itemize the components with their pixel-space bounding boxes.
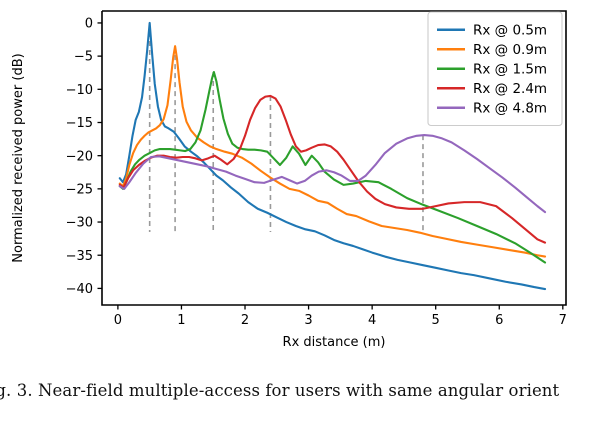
x-tick-label: 5	[432, 313, 440, 328]
x-tick-label: 1	[177, 313, 185, 328]
x-tick-label: 4	[368, 313, 376, 328]
y-tick-label: −5	[74, 50, 93, 65]
y-tick-label: −25	[66, 182, 93, 197]
y-tick-label: 0	[85, 17, 93, 32]
x-tick-label: 6	[495, 313, 503, 328]
x-tick-label: 2	[241, 313, 249, 328]
y-tick-label: −35	[66, 249, 93, 264]
x-tick-label: 0	[114, 313, 122, 328]
figure-caption: ig. 3. Near-field multiple-access for us…	[0, 358, 614, 422]
chart-figure: 012345670−5−10−15−20−25−30−35−40Rx dista…	[0, 0, 614, 358]
legend-label: Rx @ 0.9m	[473, 42, 547, 58]
x-tick-label: 3	[304, 313, 312, 328]
figure-page: 012345670−5−10−15−20−25−30−35−40Rx dista…	[0, 0, 614, 422]
x-tick-label: 7	[559, 313, 567, 328]
y-tick-label: −15	[66, 116, 93, 131]
y-tick-label: −10	[66, 83, 93, 98]
legend-label: Rx @ 0.5m	[473, 23, 547, 39]
y-tick-label: −20	[66, 149, 93, 164]
y-tick-label: −40	[66, 282, 93, 297]
x-axis-label: Rx distance (m)	[283, 335, 386, 350]
y-axis-label: Normalized received power (dB)	[11, 53, 26, 262]
legend-label: Rx @ 4.8m	[473, 101, 547, 117]
y-tick-label: −30	[66, 216, 93, 231]
caption-text: ig. 3. Near-field multiple-access for us…	[0, 381, 559, 400]
line-chart: 012345670−5−10−15−20−25−30−35−40Rx dista…	[0, 0, 614, 358]
legend-label: Rx @ 1.5m	[473, 62, 547, 78]
legend-label: Rx @ 2.4m	[473, 81, 547, 97]
